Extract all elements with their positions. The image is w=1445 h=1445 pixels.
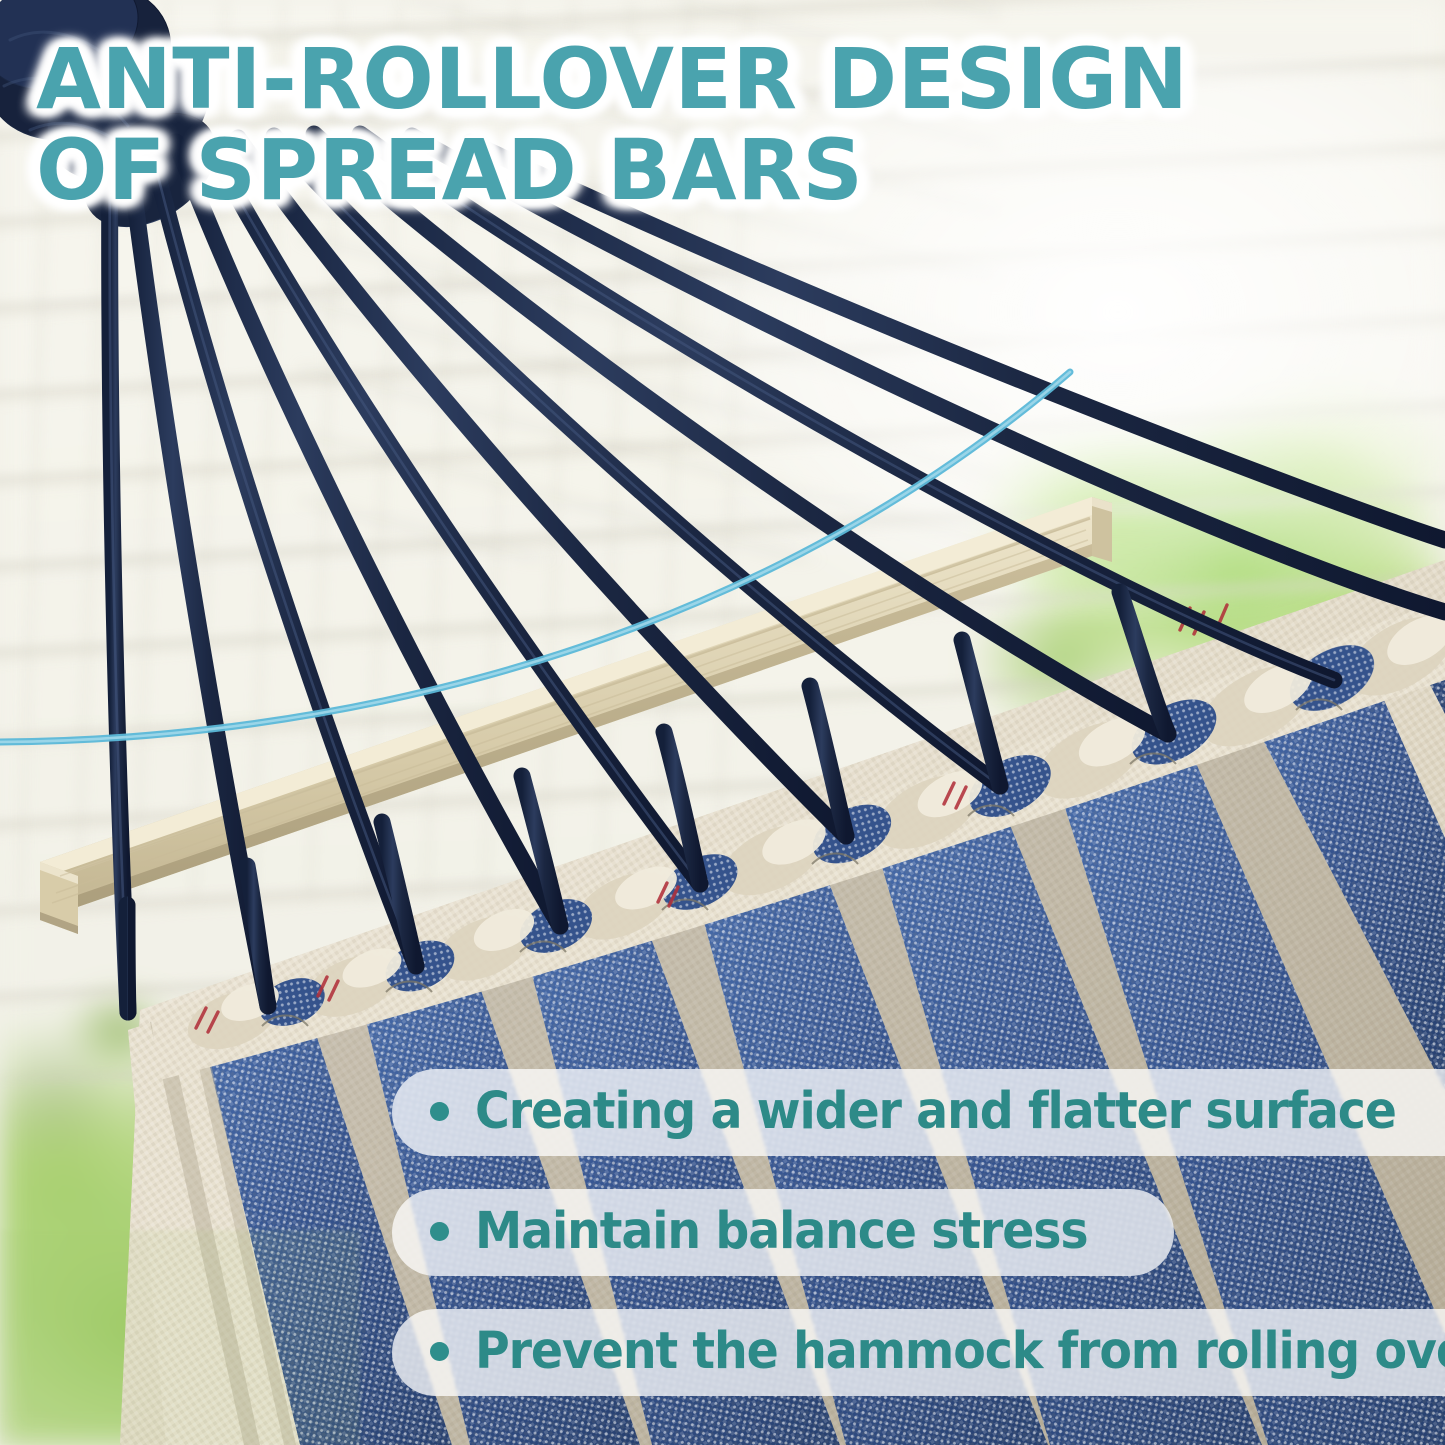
benefits-list: Creating a wider and flatter surface Mai… xyxy=(392,1069,1432,1396)
product-feature-image: ANTI-ROLLOVER DESIGN OF SPREAD BARS Crea… xyxy=(0,0,1445,1445)
benefit-text: Creating a wider and flatter surface xyxy=(475,1086,1396,1137)
bullet-dot-icon xyxy=(430,1222,449,1241)
bullet-dot-icon xyxy=(430,1102,449,1121)
bullet-dot-icon xyxy=(430,1342,449,1361)
benefit-text: Prevent the hammock from rolling over xyxy=(475,1326,1445,1377)
list-item: Maintain balance stress xyxy=(392,1189,1174,1276)
list-item: Creating a wider and flatter surface xyxy=(392,1069,1445,1156)
list-item: Prevent the hammock from rolling over xyxy=(392,1309,1445,1396)
benefit-text: Maintain balance stress xyxy=(475,1206,1087,1257)
